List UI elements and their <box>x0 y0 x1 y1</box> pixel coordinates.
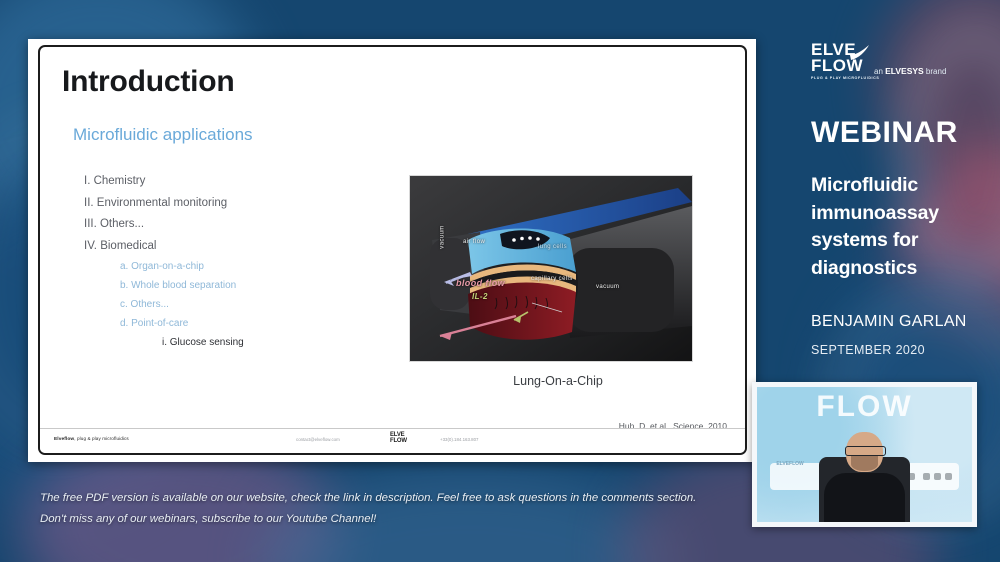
partner-logo <box>934 473 941 480</box>
logo-swoosh-icon <box>849 44 871 62</box>
slide-subtitle: Microfluidic applications <box>73 125 253 145</box>
footer-brand: Elveflow <box>54 437 74 442</box>
partner-logo <box>923 473 930 480</box>
outline-item: c. Others... <box>120 299 244 310</box>
footer-phone: +33(0).184.163.807 <box>440 437 478 442</box>
footer-email: contact@elveflow.com <box>296 437 340 442</box>
slide-footer: Elveflow, plug & play microfluidics cont… <box>40 428 745 453</box>
presenter-beard <box>851 456 879 471</box>
slide-title: Introduction <box>62 65 235 99</box>
presentation-slide: Introduction Microfluidic applications I… <box>38 45 747 455</box>
lung-chip-illustration <box>410 176 692 361</box>
outline-item: II. Environmental monitoring <box>84 197 244 209</box>
outline-list: I. Chemistry II. Environmental monitorin… <box>84 175 244 348</box>
promo-line-1: The free PDF version is available on our… <box>40 488 700 509</box>
footer-tagline: Elveflow, plug & play microfluidics <box>54 436 129 442</box>
speaker-name: BENJAMIN GARLAN <box>811 313 967 331</box>
figure-label-vacuum-left: vacuum <box>440 225 446 248</box>
partner-logo <box>945 473 952 480</box>
footer-elveflow-logo: ELVE FLOW <box>390 433 407 444</box>
footer-logo-line2: FLOW <box>390 439 407 445</box>
webcam-video[interactable]: FLOW ELVEFLOW <box>757 387 972 522</box>
backdrop-flow-text: FLOW <box>757 390 972 424</box>
figure-label-air-flow: air flow <box>463 239 485 245</box>
figure-label-il2: IL-2 <box>472 292 488 301</box>
promo-line-2: Don't miss any of our webinars, subscrib… <box>40 509 700 530</box>
lung-on-a-chip-figure: vacuum vacuum air flow lung cells blood … <box>409 175 693 362</box>
presenter-webcam[interactable]: FLOW ELVEFLOW <box>752 382 977 527</box>
figure-label-blood-flow: blood flow <box>456 278 505 288</box>
outline-item: I. Chemistry <box>84 175 244 187</box>
brand-suffix: brand <box>924 67 947 76</box>
webinar-title: Microfluidic immunoassay systems for dia… <box>811 172 991 282</box>
outline-item: a. Organ-on-a-chip <box>120 261 244 272</box>
brand-prefix: an <box>874 67 885 76</box>
figure-label-vacuum-right: vacuum <box>596 284 619 290</box>
promo-text: The free PDF version is available on our… <box>40 488 700 530</box>
outline-item: b. Whole blood separation <box>120 280 244 291</box>
outline-item: d. Point-of-care <box>120 318 244 329</box>
logo-tagline: PLUG & PLAY MICROFLUIDICS <box>811 76 879 80</box>
figure-caption: Lung-On-a-Chip <box>458 374 658 388</box>
webinar-kicker: WEBINAR <box>811 116 958 150</box>
outline-item: III. Others... <box>84 218 244 230</box>
outline-item: i. Glucose sensing <box>162 337 244 348</box>
elvesys-brand-note: an ELVESYS brand <box>874 66 946 76</box>
webinar-date: SEPTEMBER 2020 <box>811 343 925 357</box>
outline-item: IV. Biomedical <box>84 240 244 252</box>
figure-label-lung-cells: lung cells <box>538 244 567 250</box>
presenter-glasses <box>845 446 886 456</box>
brand-name: ELVESYS <box>885 66 924 76</box>
backdrop-brand-text: ELVEFLOW <box>776 461 803 467</box>
figure-label-capillary-cells: capillary cells <box>531 276 573 282</box>
presenter-torso <box>824 473 906 522</box>
footer-tagline-rest: , plug & play microfluidics <box>74 436 129 441</box>
